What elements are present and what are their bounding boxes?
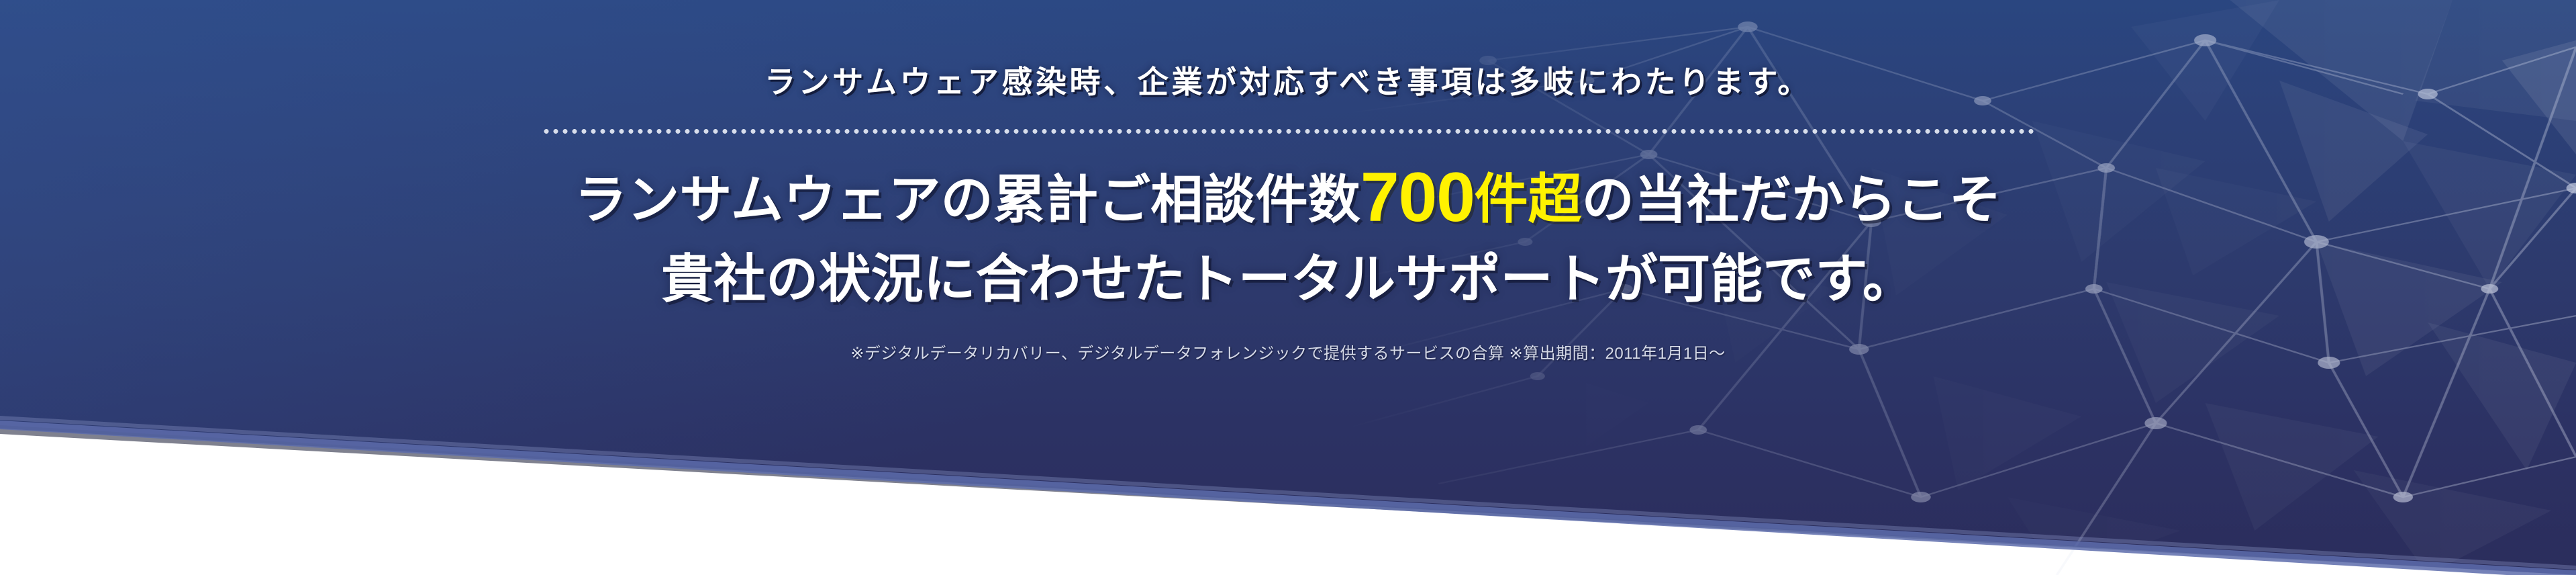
banner-content: ランサムウェア感染時、企業が対応すべき事項は多岐にわたります。 ランサムウェアの… <box>0 0 2576 575</box>
footnote-text: ※デジタルデータリカバリー、デジタルデータフォレンジックで提供するサービスの合算… <box>850 340 1725 363</box>
dotted-divider <box>542 129 2035 134</box>
headline: ランサムウェアの累計ご相談件数700件超の当社だからこそ 貴社の状況に合わせたト… <box>575 165 2001 313</box>
ransomware-support-banner: ランサムウェア感染時、企業が対応すべき事項は多岐にわたります。 ランサムウェアの… <box>0 0 2576 575</box>
highlight-number: 700 <box>1360 159 1475 236</box>
headline-line1-before: ランサムウェアの累計ご相談件数 <box>575 170 1360 229</box>
highlight-unit: 件超 <box>1475 169 1582 229</box>
lead-text: ランサムウェア感染時、企業が対応すべき事項は多岐にわたります。 <box>764 58 1812 102</box>
headline-line-1: ランサムウェアの累計ご相談件数700件超の当社だからこそ <box>575 165 2001 234</box>
headline-line-2: 貴社の状況に合わせたトータルサポートが可能です。 <box>575 245 2001 313</box>
headline-line1-after: の当社だからこそ <box>1582 170 2001 229</box>
